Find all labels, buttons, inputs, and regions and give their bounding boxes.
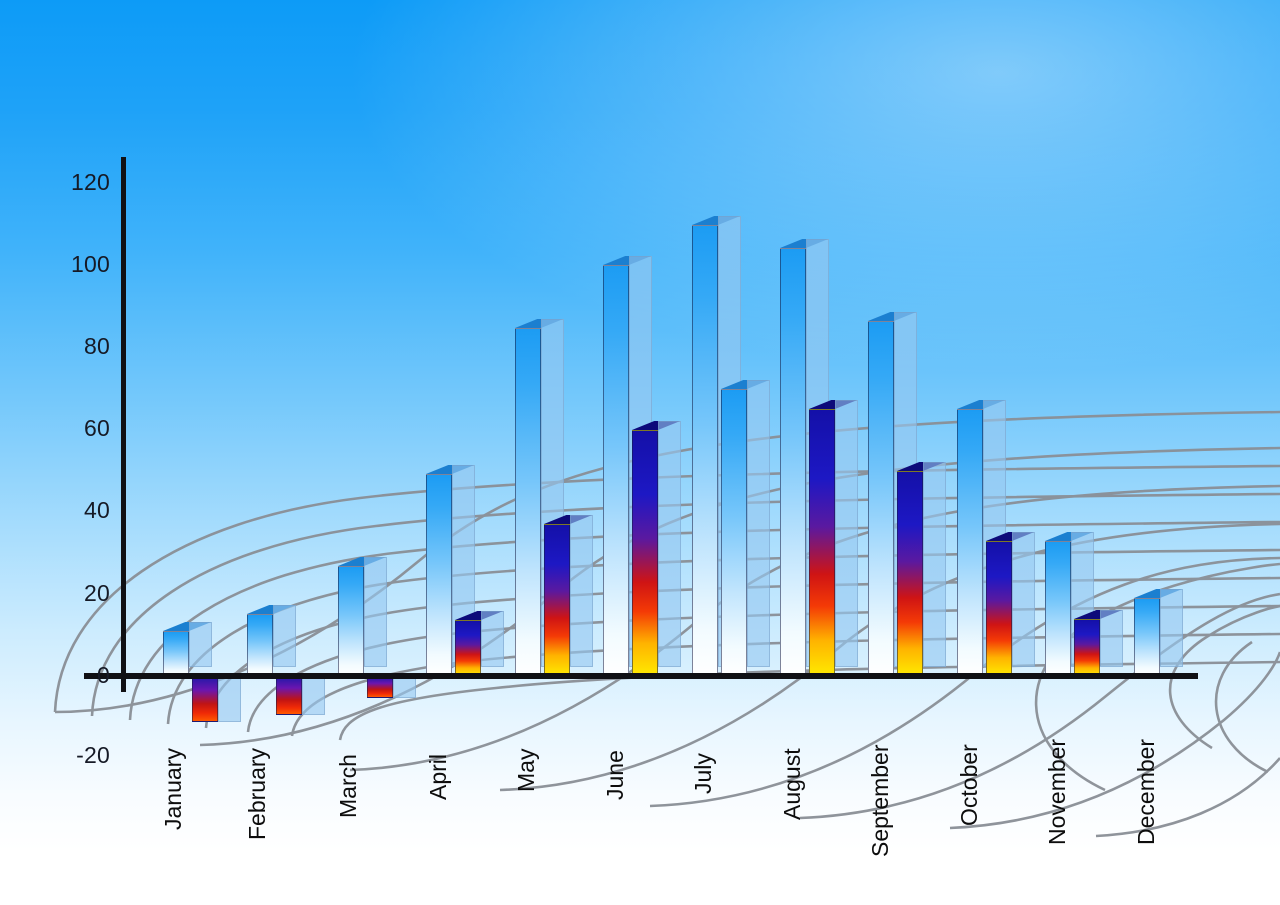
bar-may-series1[interactable] [515,328,541,676]
x-tick-label-july: July [690,753,717,794]
bar-january-series1[interactable] [163,631,189,676]
bar-march-series2[interactable] [367,677,393,698]
bar-side-face [1012,532,1035,667]
bar-front-face [897,471,923,676]
bar-side-face [218,677,241,722]
bar-april-series1[interactable] [426,474,452,676]
bar-august-series1[interactable] [780,248,806,676]
bar-front-face [603,265,629,676]
bar-february-series2[interactable] [276,677,302,715]
bar-side-face [923,462,946,667]
chart-canvas: 120 100 80 60 40 20 0 -20 January Februa… [0,0,1280,905]
bar-side-face [481,611,504,667]
bar-front-face [338,566,364,676]
bar-april-series2[interactable] [455,620,481,676]
bar-october-series1[interactable] [957,409,983,676]
bar-june-series2[interactable] [632,430,658,676]
x-tick-label-february: February [244,748,271,840]
bar-front-face [455,620,481,676]
bar-front-face [1134,598,1160,676]
bar-front-face [163,631,189,676]
bar-side-face [273,605,296,667]
x-tick-label-january: January [160,748,187,830]
x-axis-line [84,673,1198,679]
x-tick-label-october: October [956,744,983,826]
bar-side-face [189,622,212,667]
bar-february-series1[interactable] [247,614,273,676]
x-tick-label-december: December [1133,739,1160,845]
y-tick-label-0: 0 [40,662,110,689]
bar-front-face [276,677,302,715]
x-tick-label-june: June [602,750,629,800]
bar-front-face [986,541,1012,676]
bar-side-face [570,515,593,667]
bar-side-face [747,380,770,667]
bar-front-face [426,474,452,676]
x-tick-label-may: May [513,749,540,792]
bar-front-face [515,328,541,676]
y-axis-line [121,157,126,692]
bar-july-series1[interactable] [692,225,718,676]
x-tick-label-november: November [1044,739,1071,845]
y-tick-label-60: 60 [40,415,110,442]
bar-front-face [780,248,806,676]
bar-front-face [1074,619,1100,676]
bar-front-face [367,677,393,698]
bar-front-face [692,225,718,676]
x-tick-label-april: April [425,754,452,800]
bar-side-face [1160,589,1183,667]
bar-side-face [364,557,387,667]
bar-front-face [868,321,894,676]
bar-side-face [393,677,416,698]
bar-may-series2[interactable] [544,524,570,676]
bar-november-series2[interactable] [1074,619,1100,676]
plot-area: 120 100 80 60 40 20 0 -20 January Februa… [0,0,1280,905]
x-tick-label-august: August [779,748,806,820]
bar-november-series1[interactable] [1045,541,1071,676]
bar-front-face [192,677,218,722]
bar-january-series2[interactable] [192,677,218,722]
x-tick-label-september: September [867,744,894,857]
bar-front-face [957,409,983,676]
bar-front-face [632,430,658,676]
bar-march-series1[interactable] [338,566,364,676]
bar-september-series2[interactable] [897,471,923,676]
x-tick-label-march: March [335,754,362,818]
bar-front-face [1045,541,1071,676]
y-tick-label-120: 120 [40,169,110,196]
y-tick-label-100: 100 [40,251,110,278]
bar-june-series1[interactable] [603,265,629,676]
bar-side-face [835,400,858,667]
bar-front-face [247,614,273,676]
bar-front-face [721,389,747,676]
bar-front-face [809,409,835,676]
bar-july-series2[interactable] [721,389,747,676]
bar-december-series1[interactable] [1134,598,1160,676]
y-tick-label-20: 20 [40,580,110,607]
y-tick-label-40: 40 [40,497,110,524]
bar-side-face [658,421,681,667]
bar-side-face [1100,610,1123,667]
bar-august-series2[interactable] [809,409,835,676]
bar-front-face [544,524,570,676]
bar-september-series1[interactable] [868,321,894,676]
y-tick-label-neg20: -20 [40,742,110,769]
bar-october-series2[interactable] [986,541,1012,676]
y-tick-label-80: 80 [40,333,110,360]
bar-side-face [302,677,325,715]
